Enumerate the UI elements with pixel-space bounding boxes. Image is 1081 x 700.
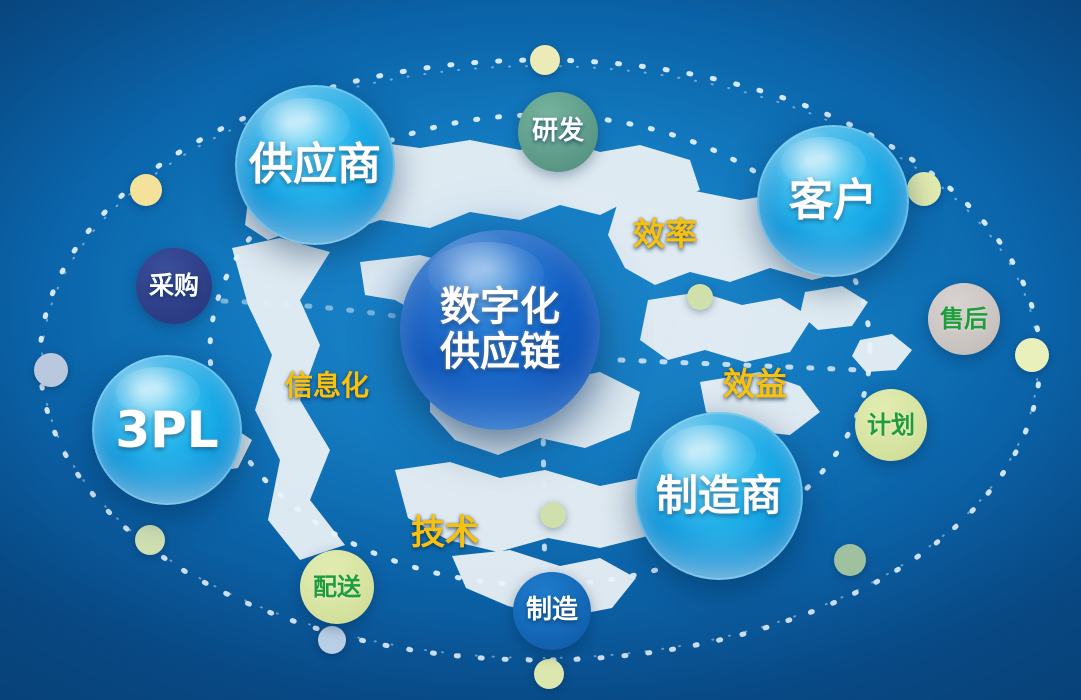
chip-配送[interactable]: 配送 (300, 550, 374, 624)
chip-label: 采购 (149, 272, 199, 300)
chip-制造[interactable]: 制造 (513, 572, 591, 650)
chip-售后[interactable]: 售后 (928, 283, 1000, 355)
node-sphere-label: 3PL (115, 402, 218, 458)
node-group: 数字化供应链供应商客户3PL制造商研发效率售后采购信息化效益计划技术配送制造 (0, 0, 1081, 700)
node-sphere-供应商[interactable]: 供应商 (235, 85, 395, 245)
chip-label: 效益 (723, 367, 787, 403)
accent-dot (687, 284, 713, 310)
chip-label: 技术 (411, 514, 479, 552)
accent-dot (135, 525, 165, 555)
accent-dot (318, 626, 346, 654)
node-sphere-label: 供应商 (249, 140, 381, 189)
chip-信息化[interactable]: 信息化 (278, 337, 376, 435)
chip-采购[interactable]: 采购 (136, 248, 212, 324)
core-label-line1: 数字化 (440, 285, 560, 330)
node-sphere-3PL[interactable]: 3PL (92, 355, 242, 505)
chip-label: 效率 (633, 217, 697, 253)
core-sphere-digital-supply-chain[interactable]: 数字化供应链 (400, 230, 600, 430)
accent-dot (540, 502, 566, 528)
accent-dot (1015, 338, 1049, 372)
chip-研发[interactable]: 研发 (518, 92, 598, 172)
chip-label: 售后 (940, 306, 988, 333)
chip-label: 信息化 (285, 370, 369, 401)
node-sphere-label: 客户 (789, 176, 877, 225)
chip-label: 计划 (867, 412, 915, 439)
chip-效益[interactable]: 效益 (710, 340, 800, 430)
chip-计划[interactable]: 计划 (855, 389, 927, 461)
chip-技术[interactable]: 技术 (400, 488, 490, 578)
chip-label: 配送 (313, 574, 361, 601)
core-sphere-label: 数字化供应链 (440, 285, 560, 375)
chip-效率[interactable]: 效率 (620, 190, 710, 280)
core-label-line2: 供应链 (440, 330, 560, 375)
accent-dot (34, 353, 68, 387)
infographic-canvas: 数字化供应链供应商客户3PL制造商研发效率售后采购信息化效益计划技术配送制造 (0, 0, 1081, 700)
node-sphere-label: 制造商 (656, 472, 782, 519)
node-sphere-制造商[interactable]: 制造商 (635, 412, 803, 580)
accent-dot (834, 544, 866, 576)
accent-dot (907, 172, 941, 206)
node-sphere-客户[interactable]: 客户 (757, 125, 909, 277)
accent-dot (530, 45, 560, 75)
accent-dot (534, 659, 564, 689)
accent-dot (130, 174, 162, 206)
chip-label: 制造 (526, 596, 578, 625)
chip-label: 研发 (532, 117, 584, 146)
